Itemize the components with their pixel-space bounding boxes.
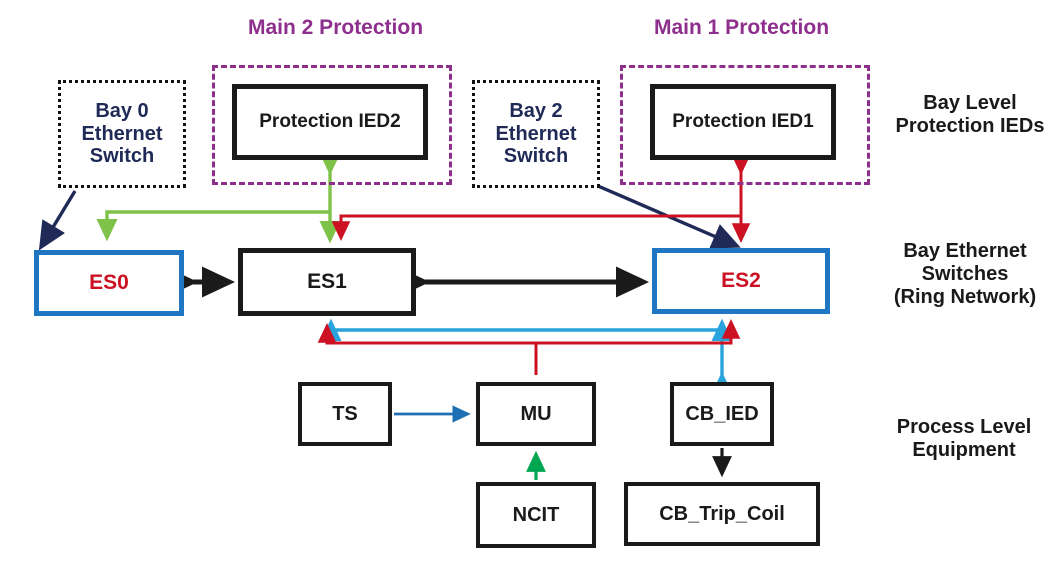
bay0-note-to-es0-pointer (41, 191, 75, 247)
bay-ethernet-switches-label: Bay Ethernet Switches (Ring Network) (874, 240, 1056, 310)
ts-box[interactable]: TS (298, 382, 392, 446)
ncit-box[interactable]: NCIT (476, 482, 596, 548)
bay-2-ethernet-switch-note: Bay 2 Ethernet Switch (472, 80, 600, 188)
main-1-protection-title: Main 1 Protection (654, 16, 829, 40)
cbied-to-es1-goose-link (331, 322, 722, 330)
ied2-to-es0-link (107, 212, 330, 238)
protection-ied2-box[interactable]: Protection IED2 (232, 84, 428, 160)
mu-box[interactable]: MU (476, 382, 596, 446)
es1-switch-box[interactable]: ES1 (238, 248, 416, 316)
es0-switch-box[interactable]: ES0 (34, 250, 184, 316)
mu-to-es1-sv-link (327, 326, 536, 375)
ied1-to-es1-link (341, 216, 741, 238)
process-level-equipment-label: Process Level Equipment (876, 416, 1052, 462)
main-2-protection-title: Main 2 Protection (248, 16, 423, 40)
cb-trip-coil-box[interactable]: CB_Trip_Coil (624, 482, 820, 546)
bay-level-protection-ieds-label: Bay Level Protection IEDs (884, 92, 1056, 138)
cb-ied-box[interactable]: CB_IED (670, 382, 774, 446)
network-diagram-canvas: Main 2 Protection Main 1 Protection Prot… (0, 0, 1056, 568)
protection-ied1-box[interactable]: Protection IED1 (650, 84, 836, 160)
es2-switch-box[interactable]: ES2 (652, 248, 830, 314)
bay-0-ethernet-switch-note: Bay 0 Ethernet Switch (58, 80, 186, 188)
